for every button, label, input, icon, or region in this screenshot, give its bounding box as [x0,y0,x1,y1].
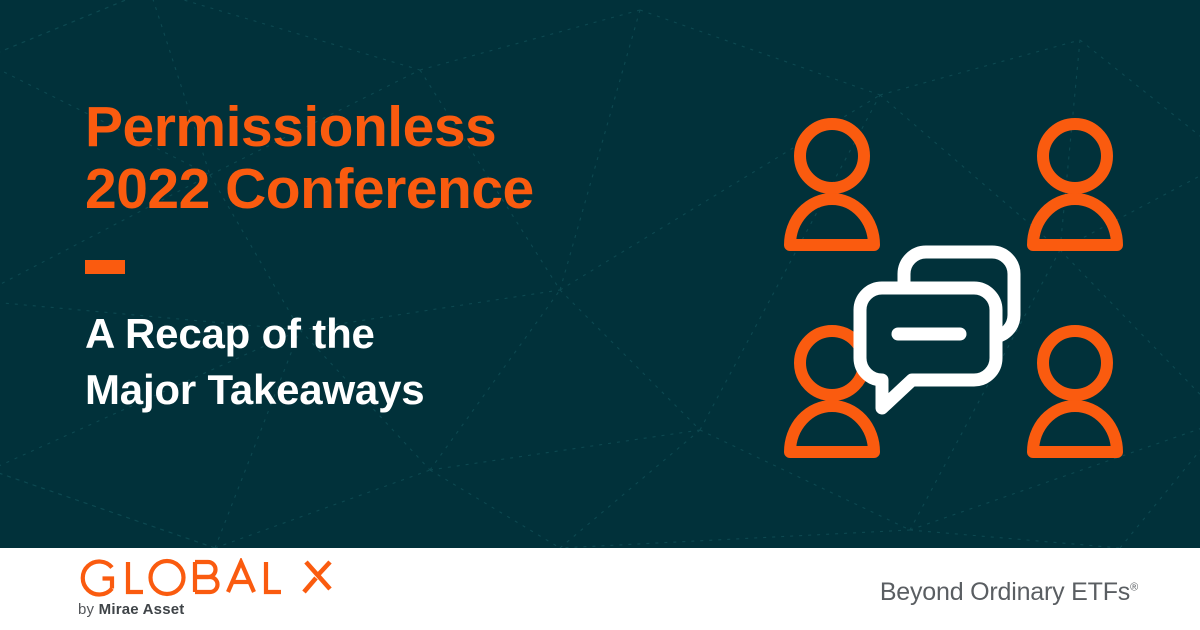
page-subtitle-line-2: Major Takeaways [85,362,725,418]
page-title-line-1: Permissionless [85,96,725,158]
hero-copy: Permissionless 2022 Conference A Recap o… [85,96,725,418]
registered-trademark-icon: ® [1130,582,1138,594]
page-title-line-2: 2022 Conference [85,158,725,220]
footer-bar: by Mirae Asset Beyond Ordinary ETFs® [0,548,1200,630]
brand-tagline: Beyond Ordinary ETFs® [880,578,1138,607]
title-divider-rule [85,260,125,274]
brand-byline: by Mirae Asset [78,601,350,618]
person-icon-bottom-right [1033,331,1117,452]
global-x-logo-icon[interactable] [78,558,350,598]
brand-logo[interactable]: by Mirae Asset [78,558,350,618]
social-card: Permissionless 2022 Conference A Recap o… [0,0,1200,630]
person-icon-top-left [790,124,874,245]
tagline-text: Beyond Ordinary ETFs [880,578,1130,606]
brand-byline-prefix: by [78,601,99,618]
page-subtitle-line-1: A Recap of the [85,306,725,362]
hero-banner: Permissionless 2022 Conference A Recap o… [0,0,1200,548]
brand-byline-name: Mirae Asset [99,601,185,618]
conference-discussion-illustration [770,110,1140,460]
speech-bubble-front-icon [860,288,996,408]
person-icon-top-right [1033,124,1117,245]
global-x-mark [304,562,330,592]
